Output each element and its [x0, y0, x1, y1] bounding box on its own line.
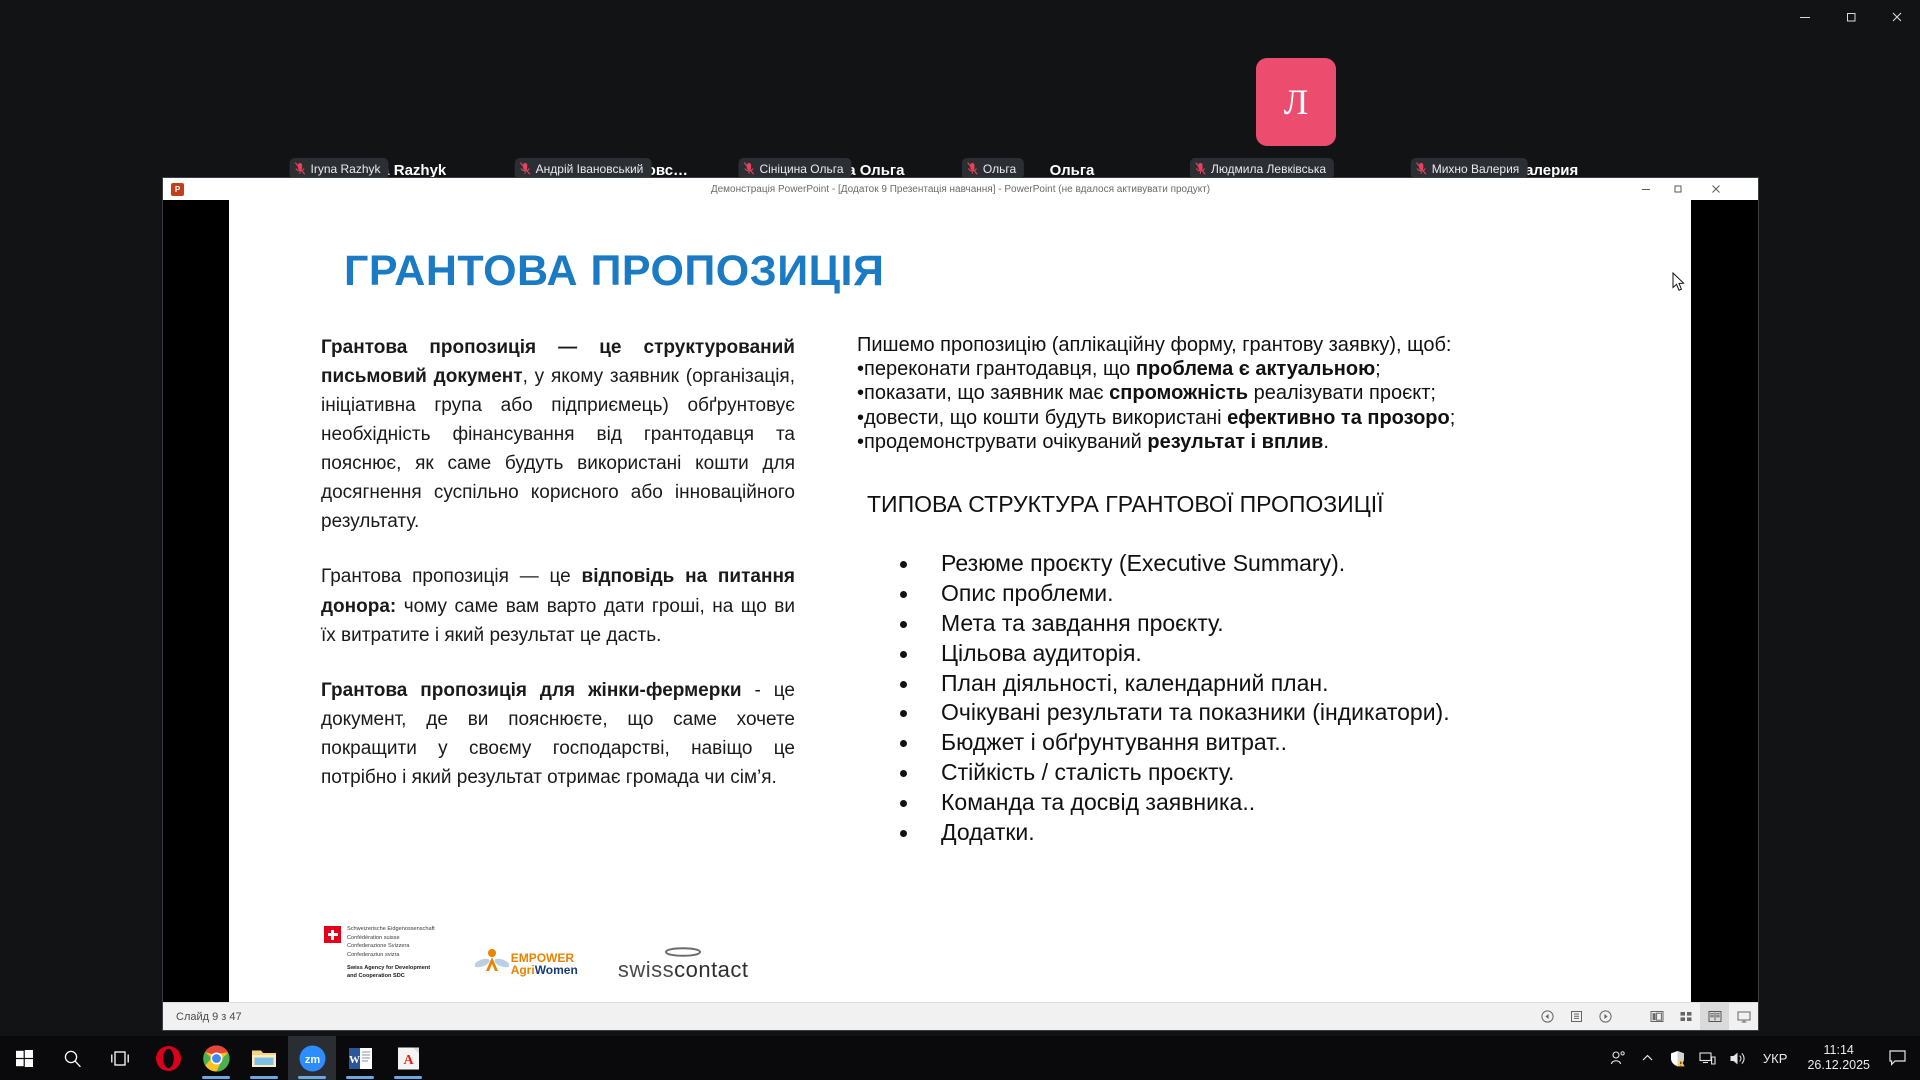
swiss-flag-icon: [324, 926, 341, 943]
body-text: , у якому заявник (організація, ініціати…: [321, 366, 795, 532]
window-controls: [1782, 0, 1920, 34]
windows-logo-icon: [16, 1050, 33, 1067]
volume-icon[interactable]: [1723, 1036, 1753, 1080]
chrome-icon: [203, 1045, 230, 1072]
presentation-slide: ГРАНТОВА ПРОПОЗИЦІЯ Грантова пропозиція …: [229, 200, 1691, 1003]
folder-icon: [251, 1047, 277, 1069]
slide-sorter-view-button[interactable]: [1671, 1003, 1700, 1030]
muted-microphone-icon: [743, 162, 754, 175]
mouse-cursor: [1672, 272, 1685, 297]
sc-text-a: swiss: [618, 957, 674, 982]
emphasis-text: результат і вплив: [1147, 431, 1323, 453]
word-icon: W: [348, 1046, 373, 1071]
body-text: довести, що кошти будуть використані: [864, 407, 1227, 429]
dot-bullet-glyph: •: [857, 382, 864, 404]
chrome-app-button[interactable]: [192, 1036, 240, 1080]
participant-nametag-label: Сініцина Ольга: [759, 162, 843, 176]
agriwomen-figure-icon: [475, 947, 509, 981]
slide-dot-item: •продемонструвати очікуваний результат і…: [857, 430, 1597, 454]
body-text: ;: [1375, 358, 1381, 380]
sc-text-b: contact: [674, 957, 748, 982]
body-text: реалізувати проєкт;: [1248, 382, 1436, 404]
svg-text:W: W: [349, 1054, 360, 1066]
language-indicator[interactable]: УКР: [1753, 1051, 1798, 1066]
muted-microphone-icon: [1416, 162, 1427, 175]
muted-microphone-icon: [520, 162, 531, 175]
swiss-agency-line: and Cooperation SDC: [347, 972, 435, 981]
show-hidden-icons-chevron[interactable]: [1633, 1036, 1663, 1080]
close-window-button[interactable]: [1874, 0, 1920, 34]
slide-notes-button[interactable]: [1562, 1003, 1591, 1030]
structure-bullet-list: Резюме проєкту (Executive Summary).Опис …: [895, 549, 1597, 848]
slide-sponsor-logos: Schweizerische EidgenossenschaftConfédér…: [324, 925, 749, 981]
body-text: ;: [1450, 407, 1456, 429]
network-icon[interactable]: [1693, 1036, 1723, 1080]
swiss-agency-line: Swiss Agency for Development: [347, 964, 435, 973]
powerpoint-titlebar: P Демонстрація PowerPoint - [Додаток 9 П…: [163, 178, 1758, 201]
reading-view-button[interactable]: [1700, 1003, 1729, 1030]
powerpoint-title-text: Демонстрація PowerPoint - [Додаток 9 Пре…: [163, 184, 1758, 195]
muted-microphone-icon: [967, 162, 978, 175]
normal-view-button[interactable]: [1642, 1003, 1671, 1030]
status-view-buttons: [1533, 1003, 1758, 1030]
participant-nametag-label: Андрій Івановський: [536, 162, 644, 176]
action-center-icon: [1889, 1050, 1906, 1066]
swiss-logo-line: Schweizerische Eidgenossenschaft: [347, 925, 435, 934]
structure-bullet-item: Цільова аудиторія.: [895, 639, 1597, 669]
acrobat-icon: A: [396, 1046, 421, 1071]
body-text: .: [1323, 431, 1329, 453]
dot-bullet-glyph: •: [857, 431, 864, 453]
right-dot-list: •переконати грантодавця, що проблема є а…: [857, 357, 1597, 454]
empower-line2b: Women: [535, 963, 578, 977]
zoom-app-button[interactable]: zm: [288, 1036, 336, 1080]
participant-nametag-label: Iryna Razhyk: [310, 162, 380, 176]
structure-bullet-item: Бюджет і обґрунтування витрат..: [895, 728, 1597, 758]
restore-window-button[interactable]: [1828, 0, 1874, 34]
emphasis-text: Грантова пропозиція для жінки-фермерки: [321, 680, 742, 701]
powerpoint-status-bar: Слайд 9 з 47: [163, 1002, 1758, 1030]
structure-bullet-item: Резюме проєкту (Executive Summary).: [895, 549, 1597, 579]
ppt-minimize-button[interactable]: [1630, 178, 1662, 200]
emphasis-text: ефективно та прозоро: [1227, 407, 1450, 429]
participant-nametag[interactable]: Сініцина Ольга: [738, 158, 851, 179]
clock-date: 26.12.2025: [1807, 1058, 1870, 1073]
structure-bullet-item: Додатки.: [895, 818, 1597, 848]
start-button[interactable]: [0, 1036, 48, 1080]
structure-bullet-item: Очікувані результати та показники (індик…: [895, 698, 1597, 728]
slide-dot-item: •довести, що кошти будуть використані еф…: [857, 406, 1597, 430]
participant-nametag-label: Людмила Левківська: [1211, 162, 1326, 176]
slide-title: ГРАНТОВА ПРОПОЗИЦІЯ: [344, 247, 884, 296]
search-icon: [63, 1049, 82, 1068]
structure-bullet-item: Стійкість / сталість проєкту.: [895, 758, 1597, 788]
emphasis-text: проблема є актуальною: [1136, 358, 1375, 380]
windows-taskbar: zm W A: [0, 1036, 1920, 1080]
swiss-logo-text: Schweizerische EidgenossenschaftConfédér…: [347, 925, 435, 981]
next-slide-button[interactable]: [1591, 1003, 1620, 1030]
structure-bullet-item: Мета та завдання проєкту.: [895, 609, 1597, 639]
minimize-window-button[interactable]: [1782, 0, 1828, 34]
empower-line2a: Agri: [511, 963, 535, 977]
slide-dot-item: •переконати грантодавця, що проблема є а…: [857, 357, 1597, 381]
clock[interactable]: 11:14 26.12.2025: [1797, 1043, 1880, 1074]
active-speaker-tile[interactable]: Л: [1256, 58, 1336, 146]
shared-powerpoint-window: P Демонстрація PowerPoint - [Додаток 9 П…: [163, 178, 1758, 1030]
swiss-logo-line: Confederaziun svizra: [347, 951, 435, 960]
opera-icon: [155, 1045, 182, 1072]
emphasis-text: спроможність: [1109, 382, 1248, 404]
swiss-confederation-logo: Schweizerische EidgenossenschaftConfédér…: [324, 925, 435, 981]
zoom-meeting-window: Iryna RazhykАндрій Івановс…Сініцина Ольг…: [0, 0, 1920, 1080]
security-shield-warning-icon[interactable]: [1663, 1036, 1693, 1080]
body-text: показати, що заявник має: [864, 382, 1109, 404]
structure-bullet-item: План діяльності, календарний план.: [895, 669, 1597, 699]
structure-heading: ТИПОВА СТРУКТУРА ГРАНТОВОЇ ПРОПОЗИЦІЇ: [867, 491, 1597, 518]
slideshow-view-button[interactable]: [1729, 1003, 1758, 1030]
swiss-logo-line: Confederazione Svizzera: [347, 942, 435, 951]
svg-text:A: A: [403, 1053, 414, 1068]
body-text: продемонструвати очікуваний: [864, 431, 1147, 453]
ppt-restore-button[interactable]: [1662, 178, 1694, 200]
avatar: Л: [1256, 58, 1336, 146]
task-view-icon: [110, 1050, 130, 1067]
participant-nametag[interactable]: Андрій Івановський: [515, 158, 652, 179]
slide-paragraph: Грантова пропозиція для жінки-фермерки -…: [321, 676, 795, 792]
clock-time: 11:14: [1807, 1043, 1870, 1058]
participant-nametag[interactable]: Ольга: [962, 158, 1024, 179]
muted-microphone-icon: [1195, 162, 1206, 175]
body-text: переконати грантодавця, що: [864, 358, 1136, 380]
structure-bullet-item: Команда та досвід заявника..: [895, 788, 1597, 818]
acrobat-app-button[interactable]: A: [384, 1036, 432, 1080]
slide-left-column: Грантова пропозиція — це структурований …: [321, 333, 795, 792]
powerpoint-logo-icon: P: [171, 183, 184, 196]
participant-nametag-label: Михно Валерия: [1432, 162, 1520, 176]
action-center-button[interactable]: [1880, 1036, 1914, 1080]
swiss-logo-line: Confédération suisse: [347, 934, 435, 943]
dot-bullet-glyph: •: [857, 358, 864, 380]
structure-bullet-item: Опис проблеми.: [895, 579, 1597, 609]
people-icon[interactable]: [1603, 1036, 1633, 1080]
dot-bullet-glyph: •: [857, 407, 864, 429]
slide-counter: Слайд 9 з 47: [176, 1011, 242, 1023]
muted-microphone-icon: [294, 162, 305, 175]
ppt-close-button[interactable]: [1700, 178, 1732, 200]
task-view-button[interactable]: [96, 1036, 144, 1080]
empower-agriwomen-logo: EMPOWER AgriWomen: [475, 947, 578, 981]
body-text: Грантова пропозиція — це: [321, 566, 582, 587]
slide-right-column: Пишемо пропозицію (аплікаційну форму, гр…: [857, 333, 1597, 864]
participant-nametag-label: Ольга: [983, 162, 1016, 176]
participant-nametag[interactable]: Михно Валерия: [1411, 158, 1528, 179]
participant-nametag[interactable]: Iryna Razhyk: [289, 158, 388, 179]
slide-paragraph: Грантова пропозиція — це структурований …: [321, 333, 795, 536]
slide-dot-item: •показати, що заявник має спроможність р…: [857, 381, 1597, 405]
right-intro-line: Пишемо пропозицію (аплікаційну форму, гр…: [857, 333, 1597, 357]
participant-nametag[interactable]: Людмила Левківська: [1190, 158, 1334, 179]
zoom-icon: zm: [299, 1045, 326, 1072]
file-explorer-app-button[interactable]: [240, 1036, 288, 1080]
word-app-button[interactable]: W: [336, 1036, 384, 1080]
empower-logo-text: EMPOWER AgriWomen: [511, 952, 578, 976]
slide-stage[interactable]: ГРАНТОВА ПРОПОЗИЦІЯ Грантова пропозиція …: [163, 200, 1758, 1003]
previous-slide-button[interactable]: [1533, 1003, 1562, 1030]
slide-paragraph: Грантова пропозиція — це відповідь на пи…: [321, 562, 795, 649]
swisscontact-logo: swisscontact: [618, 945, 749, 981]
search-button[interactable]: [48, 1036, 96, 1080]
swisscontact-wordmark: swisscontact: [618, 959, 749, 981]
svg-text:zm: zm: [304, 1054, 320, 1066]
system-tray: УКР 11:14 26.12.2025: [1603, 1036, 1920, 1080]
opera-app-button[interactable]: [144, 1036, 192, 1080]
